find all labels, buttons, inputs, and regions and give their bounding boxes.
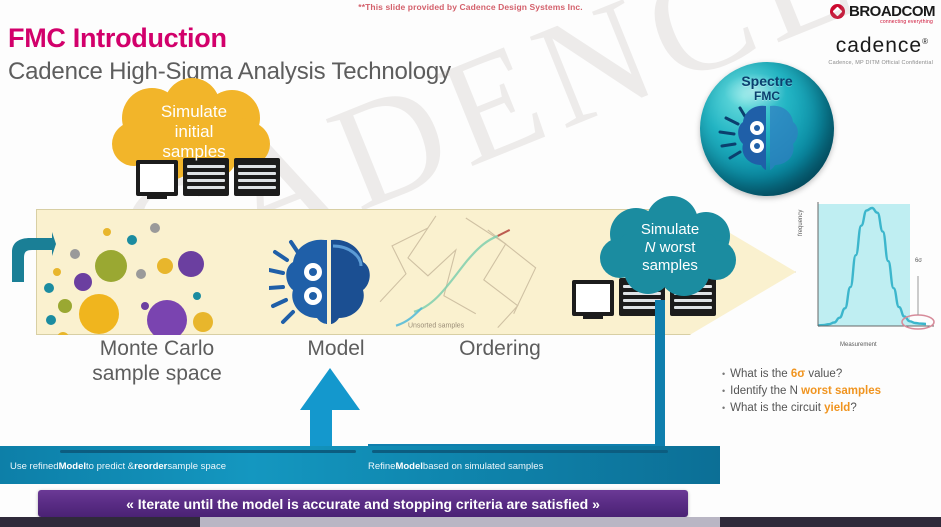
chart-y-axis-label: frequency [798,210,804,236]
monte-carlo-dot [161,398,169,406]
cadence-confidential-note: Cadence, MP DITM Official Confidential [828,60,933,66]
caption-rule-right [372,450,668,453]
key-question-highlight: 6σ [791,368,805,380]
label-monte-carlo-line2: sample space [62,361,252,386]
caption-right-post: based on simulated samples [423,461,543,472]
chart-sigma-annotation: 6σ [915,258,922,264]
compute-farm-icons-left [136,158,280,196]
label-monte-carlo-line1: Monte Carlo [62,336,252,361]
bullet-marker-icon: • [722,383,725,400]
key-question-item: •What is the 6σ value? [722,366,941,383]
caption-reorder: Use refined Model to predict & reorder s… [10,456,226,476]
cadence-wordmark: cadence [836,34,922,57]
refine-arrow-head-icon [300,368,360,410]
svg-text:Unsorted samples: Unsorted samples [408,323,465,330]
label-ordering: Ordering [420,336,580,361]
caption-left-pre: Use refined [10,461,59,472]
caption-left-bold1: Model [59,461,86,472]
caption-rule-left [60,450,356,453]
caption-refine: Refine Model based on simulated samples [368,456,543,476]
footer-strip-highlight [200,517,720,527]
caption-right-pre: Refine [368,461,395,472]
slide-canvas: **This slide provided by Cadence Design … [0,0,941,527]
key-question-item: •Identify the N worst samples [722,383,941,400]
broadcom-wordmark: BROADCOM [849,3,935,20]
bullet-marker-icon: • [722,400,725,417]
cloud-simulate-worst: Simulate N worst samples [600,196,740,300]
key-question-text: Identify the N worst samples [730,383,881,400]
refine-path-vertical [655,300,665,452]
server-rack-icon [234,158,280,196]
spectre-fmc-sphere: Spectre FMC [700,62,834,196]
footer-strip [0,517,941,527]
caption-left-post: sample space [167,461,226,472]
cadence-logo: cadence® [836,34,929,58]
server-rack-icon [183,158,229,196]
broadcom-mark-icon [830,4,845,19]
slide-disclaimer: **This slide provided by Cadence Design … [0,2,941,12]
chart-x-axis-label: Measurement [840,342,877,348]
label-model: Model [280,336,392,361]
feedback-loop-arrow [8,232,56,284]
key-question-text: What is the 6σ value? [730,366,842,383]
caption-left-mid: to predict & [86,461,134,472]
iterate-banner: « Iterate until the model is accurate an… [38,490,688,517]
monitor-icon [136,160,178,196]
caption-left-bold2: reorder [134,461,167,472]
key-questions-list: •What is the 6σ value?•Identify the N wo… [722,366,941,417]
brain-model-icon [269,232,385,336]
caption-right-bold1: Model [395,461,422,472]
cadence-trademark: ® [922,37,929,46]
bullet-marker-icon: • [722,366,725,383]
monte-carlo-dot [97,398,105,406]
key-question-highlight: worst samples [801,385,881,397]
key-question-highlight: yield [824,402,850,414]
broadcom-tagline: connecting everything [880,19,933,25]
page-title: FMC Introduction [8,23,227,54]
label-monte-carlo: Monte Carlo sample space [62,336,252,386]
key-question-text: What is the circuit yield? [730,400,857,417]
broadcom-logo: BROADCOM [830,3,935,20]
monte-carlo-dot [128,401,138,411]
distribution-chart: frequency Measurement 6σ [800,198,940,346]
key-question-item: •What is the circuit yield? [722,400,941,417]
